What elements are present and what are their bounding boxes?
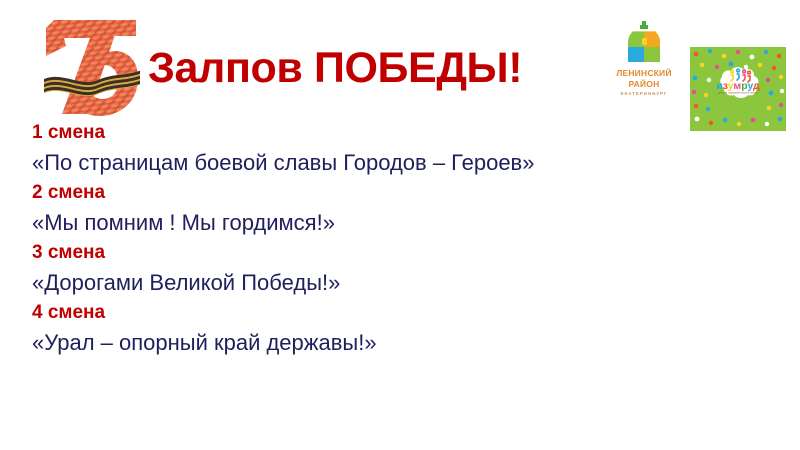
izumrud-logo-svg: изумруд детский оздоровительный лагерь [690, 47, 786, 131]
page-title: Залпов ПОБЕДЫ! [148, 40, 608, 96]
izumrud-subtitle: детский оздоровительный лагерь [718, 91, 759, 95]
shift-block: 4 смена «Урал – опорный край державы!» [32, 300, 772, 360]
shift-theme: «Мы помним ! Мы гордимся!» [32, 206, 772, 240]
shift-theme: «Дорогами Великой Победы!» [32, 266, 772, 300]
izumrud-camp-logo: изумруд детский оздоровительный лагерь [690, 47, 786, 131]
shift-block: 3 смена «Дорогами Великой Победы!» [32, 240, 772, 300]
shift-block: 1 смена «По страницам боевой славы Город… [32, 120, 772, 180]
header-banner: Залпов ПОБЕДЫ! ЛЕНИНСКИЙ РАЙОН ЕКАТЕРИНБ… [0, 0, 800, 135]
shift-label: 1 смена [32, 120, 772, 146]
leninsky-name-line2: РАЙОН [612, 79, 676, 90]
shift-block: 2 смена «Мы помним ! Мы гордимся!» [32, 180, 772, 240]
leninsky-district-logo: ЛЕНИНСКИЙ РАЙОН ЕКАТЕРИНБУРГ [612, 20, 676, 112]
leninsky-name: ЛЕНИНСКИЙ РАЙОН [612, 68, 676, 89]
75-digits [44, 18, 140, 122]
leninsky-name-line1: ЛЕНИНСКИЙ [612, 68, 676, 79]
izumrud-wordmark: изумруд [716, 80, 760, 92]
leninsky-city: ЕКАТЕРИНБУРГ [612, 91, 676, 96]
shift-label: 2 смена [32, 180, 772, 206]
shift-list: 1 смена «По страницам боевой славы Город… [32, 120, 772, 360]
shift-theme: «Урал – опорный край державы!» [32, 326, 772, 360]
shift-label: 4 смена [32, 300, 772, 326]
leninsky-lantern-icon [612, 20, 676, 66]
75-emblem-svg [44, 18, 140, 122]
shift-label: 3 смена [32, 240, 772, 266]
75-victory-anniversary-logo [44, 18, 140, 122]
shift-theme: «По страницам боевой славы Городов – Гер… [32, 146, 772, 180]
